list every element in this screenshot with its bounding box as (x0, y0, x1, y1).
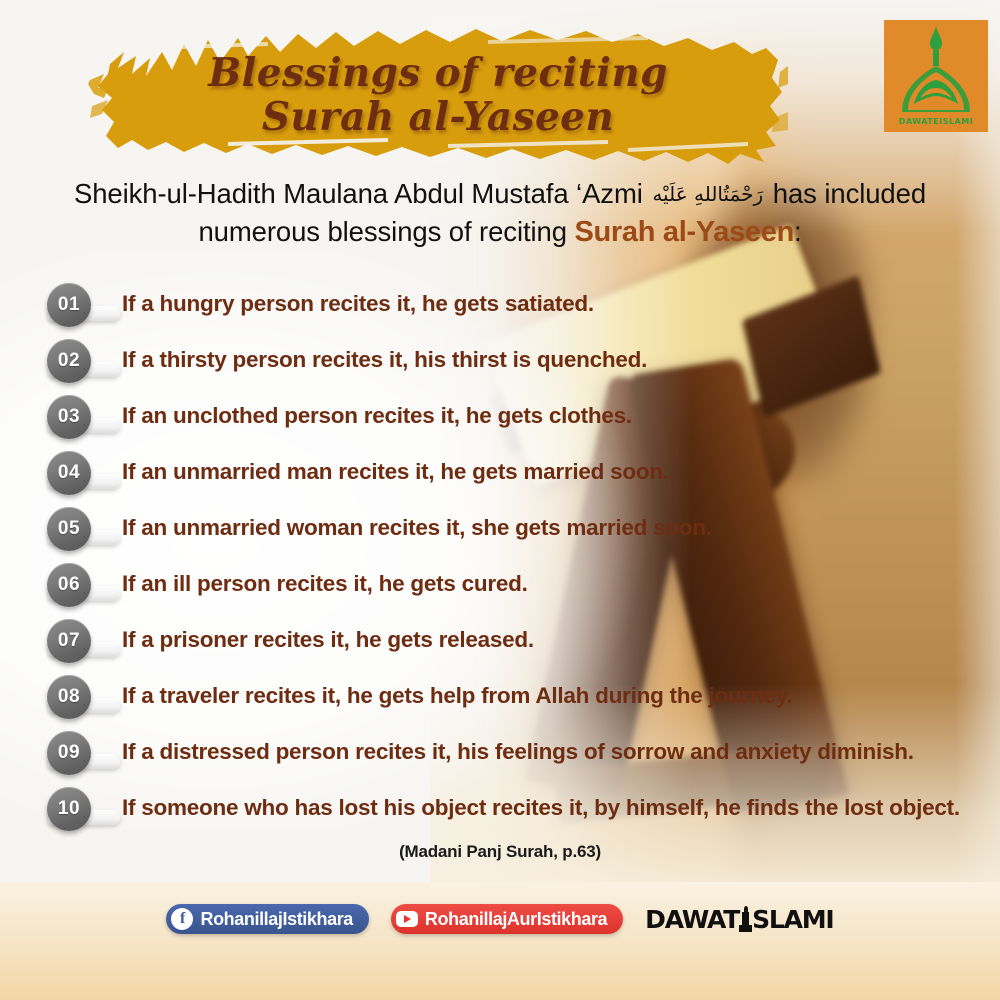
list-item: 08If a traveler recites it, he gets help… (44, 668, 984, 724)
badge-number: 08 (47, 675, 91, 719)
list-item-text: If a traveler recites it, he gets help f… (122, 683, 792, 709)
footer: f RohanillajIstikhara RohanillajAurIstik… (0, 882, 1000, 1000)
dawat-e-islami-wordmark: DAWAT SLAMI (645, 905, 833, 934)
badge-number: 09 (47, 731, 91, 775)
subtitle-accent: Surah al-Yaseen (574, 216, 794, 248)
svg-text:DAWATEISLAMI: DAWATEISLAMI (899, 117, 973, 126)
badge-number: 10 (47, 787, 91, 831)
blessings-list: 01If a hungry person recites it, he gets… (44, 276, 984, 836)
list-item-number-badge: 09 (44, 730, 120, 774)
list-item-text: If a prisoner recites it, he gets releas… (122, 627, 534, 653)
list-item-number-badge: 01 (44, 282, 120, 326)
list-item-number-badge: 08 (44, 674, 120, 718)
brand-part-2: SLAMI (752, 905, 833, 934)
list-item-number-badge: 06 (44, 562, 120, 606)
list-item-text: If an unmarried woman recites it, she ge… (122, 515, 712, 541)
list-item-text: If an unmarried man recites it, he gets … (122, 459, 669, 485)
dawat-e-islami-logo: DAWATEISLAMI (884, 20, 988, 132)
facebook-handle-badge[interactable]: f RohanillajIstikhara (166, 904, 368, 934)
list-item-number-badge: 05 (44, 506, 120, 550)
subtitle-part-1: Sheikh-ul-Hadith Maulana Abdul Mustafa ‘… (74, 178, 650, 209)
badge-number: 01 (47, 283, 91, 327)
list-item: 10If someone who has lost his object rec… (44, 780, 984, 836)
list-item: 01If a hungry person recites it, he gets… (44, 276, 984, 332)
subtitle-part-4: : (794, 216, 802, 247)
list-item-text: If a distressed person recites it, his f… (122, 739, 914, 765)
youtube-handle-label: RohanillajAurIstikhara (425, 909, 607, 930)
facebook-handle-label: RohanillajIstikhara (200, 909, 352, 930)
list-item: 04If an unmarried man recites it, he get… (44, 444, 984, 500)
badge-number: 04 (47, 451, 91, 495)
header-brush-stroke (88, 22, 788, 168)
youtube-icon (396, 908, 418, 930)
list-item: 06If an ill person recites it, he gets c… (44, 556, 984, 612)
list-item: 09If a distressed person recites it, his… (44, 724, 984, 780)
list-item-number-badge: 03 (44, 394, 120, 438)
list-item-text: If someone who has lost his object recit… (122, 795, 960, 821)
list-item-number-badge: 07 (44, 618, 120, 662)
list-item-number-badge: 10 (44, 786, 120, 830)
youtube-handle-badge[interactable]: RohanillajAurIstikhara (391, 904, 623, 934)
brand-part-1: DAWAT (645, 905, 739, 934)
subtitle: Sheikh-ul-Hadith Maulana Abdul Mustafa ‘… (40, 176, 960, 251)
list-item: 03If an unclothed person recites it, he … (44, 388, 984, 444)
honorific-arabic: رَحْمَتُاللهِ عَلَيْه (650, 182, 765, 206)
badge-number: 07 (47, 619, 91, 663)
minaret-icon (739, 906, 752, 932)
list-item-text: If a hungry person recites it, he gets s… (122, 291, 594, 317)
list-item-number-badge: 02 (44, 338, 120, 382)
badge-number: 02 (47, 339, 91, 383)
citation: (Madani Panj Surah, p.63) (0, 842, 1000, 862)
badge-number: 03 (47, 395, 91, 439)
subtitle-part-2: has included (765, 178, 926, 209)
list-item: 05If an unmarried woman recites it, she … (44, 500, 984, 556)
facebook-icon: f (171, 908, 193, 930)
list-item-text: If a thirsty person recites it, his thir… (122, 347, 647, 373)
list-item: 07If a prisoner recites it, he gets rele… (44, 612, 984, 668)
badge-number: 06 (47, 563, 91, 607)
poster: Blessings of reciting Surah al-Yaseen DA… (0, 0, 1000, 1000)
badge-number: 05 (47, 507, 91, 551)
list-item: 02If a thirsty person recites it, his th… (44, 332, 984, 388)
list-item-text: If an ill person recites it, he gets cur… (122, 571, 528, 597)
list-item-number-badge: 04 (44, 450, 120, 494)
subtitle-part-3: numerous blessings of reciting (198, 216, 574, 247)
list-item-text: If an unclothed person recites it, he ge… (122, 403, 632, 429)
